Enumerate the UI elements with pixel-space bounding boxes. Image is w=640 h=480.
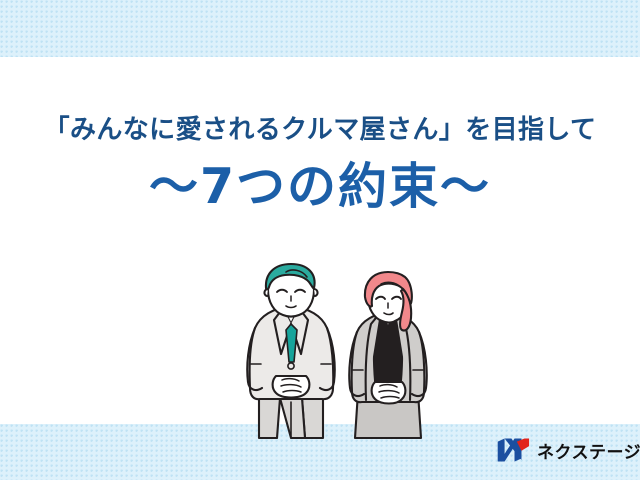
slide-canvas: 「みんなに愛されるクルマ屋さん」を目指して ～7つの約束～ (0, 0, 640, 480)
male-staff-figure (247, 264, 334, 438)
headline-block: 「みんなに愛されるクルマ屋さん」を目指して ～7つの約束～ (0, 115, 640, 215)
headline-primary-text: 「みんなに愛されるクルマ屋さん」を目指して (0, 115, 640, 146)
two-staff-bowing-illustration (228, 262, 442, 440)
female-staff-figure (349, 272, 426, 438)
top-dotted-band (0, 0, 640, 57)
brand-name-text: ネクステージ (537, 438, 640, 463)
headline-secondary-text: ～7つの約束～ (0, 160, 640, 215)
brand-logo: ネクステージ (496, 437, 640, 463)
nextage-n-mark-icon (496, 437, 530, 463)
